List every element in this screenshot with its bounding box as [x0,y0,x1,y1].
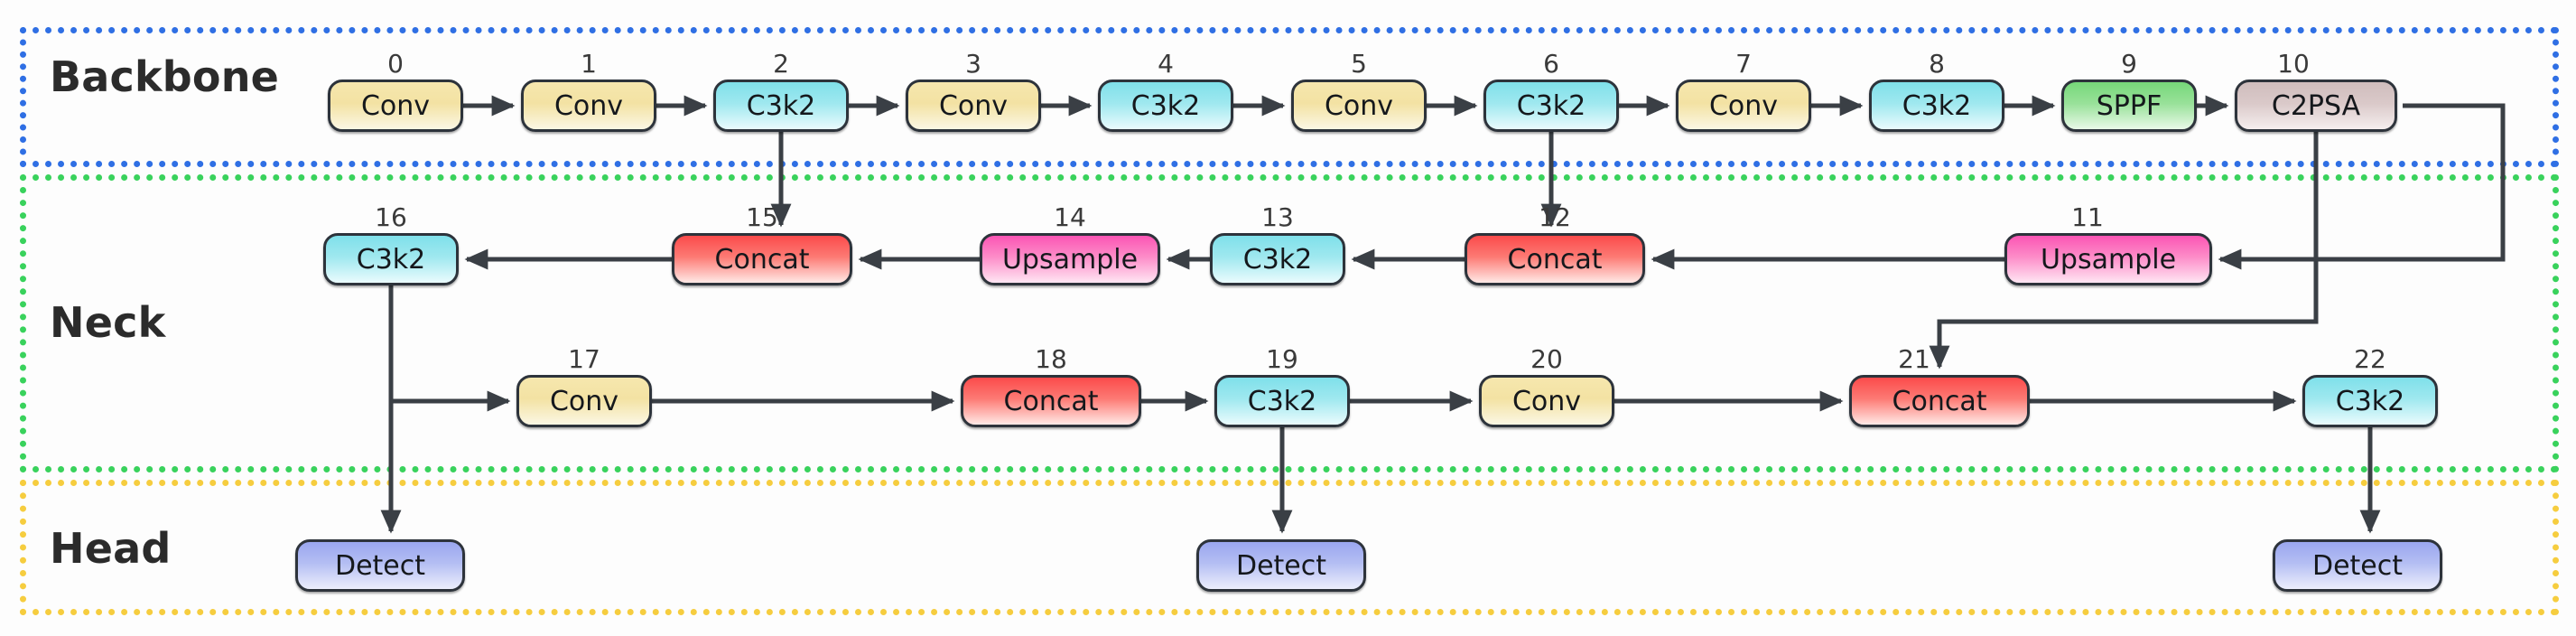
node-c3k2-13[interactable]: C3k2 [1210,233,1345,285]
node-label: Detect [1236,550,1326,582]
node-index-14: 14 [1054,202,1086,232]
node-index-15: 15 [746,202,778,232]
node-c3k2-6[interactable]: C3k2 [1483,79,1619,132]
node-index-1: 1 [581,49,597,79]
node-sppf-9[interactable]: SPPF [2061,79,2197,132]
node-index-3: 3 [965,49,981,79]
node-upsample-11[interactable]: Upsample [2004,233,2212,285]
node-label: Conv [1709,90,1778,122]
node-index-18: 18 [1035,344,1067,374]
node-index-2: 2 [773,49,789,79]
node-index-4: 4 [1158,49,1174,79]
node-conv-1[interactable]: Conv [521,79,656,132]
node-index-9: 9 [2121,49,2137,79]
node-index-17: 17 [568,344,600,374]
node-label: Conv [939,90,1008,122]
node-c3k2-16[interactable]: C3k2 [323,233,459,285]
node-conv-7[interactable]: Conv [1676,79,1811,132]
node-label: Upsample [1002,244,1138,276]
node-label: C3k2 [747,90,816,122]
node-index-21: 21 [1898,344,1930,374]
node-detect-d2[interactable]: Detect [1196,539,1366,592]
node-label: C2PSA [2272,90,2360,122]
node-index-6: 6 [1543,49,1559,79]
node-conv-5[interactable]: Conv [1291,79,1427,132]
node-conv-17[interactable]: Conv [516,375,652,427]
node-label: Detect [2312,550,2403,582]
node-c3k2-8[interactable]: C3k2 [1869,79,2004,132]
node-index-16: 16 [375,202,407,232]
node-label: Conv [1325,90,1393,122]
node-c3k2-2[interactable]: C3k2 [713,79,849,132]
node-label: C3k2 [1517,90,1586,122]
node-concat-15[interactable]: Concat [672,233,852,285]
node-label: Concat [1004,386,1099,417]
node-label: C3k2 [2336,386,2405,417]
node-index-7: 7 [1735,49,1752,79]
node-index-13: 13 [1261,202,1294,232]
node-label: Conv [550,386,618,417]
node-label: Concat [1892,386,1987,417]
node-index-8: 8 [1929,49,1945,79]
node-label: C3k2 [357,244,426,276]
node-label: SPPF [2097,90,2162,122]
node-index-22: 22 [2354,344,2386,374]
node-detect-d3[interactable]: Detect [2273,539,2442,592]
node-label: Concat [715,244,810,276]
node-concat-12[interactable]: Concat [1465,233,1645,285]
node-c3k2-19[interactable]: C3k2 [1214,375,1350,427]
node-c2psa-10[interactable]: C2PSA [2235,79,2397,132]
node-index-10: 10 [2277,49,2310,79]
node-index-12: 12 [1539,202,1571,232]
node-index-0: 0 [387,49,404,79]
node-label: C3k2 [1243,244,1313,276]
node-index-20: 20 [1530,344,1563,374]
node-label: C3k2 [1248,386,1317,417]
node-label: Conv [361,90,430,122]
node-conv-3[interactable]: Conv [906,79,1041,132]
node-detect-d1[interactable]: Detect [295,539,465,592]
node-label: Conv [1512,386,1581,417]
node-label: C3k2 [1902,90,1972,122]
node-index-5: 5 [1351,49,1367,79]
node-label: C3k2 [1131,90,1201,122]
node-upsample-14[interactable]: Upsample [980,233,1160,285]
node-concat-21[interactable]: Concat [1849,375,2030,427]
node-index-19: 19 [1266,344,1298,374]
node-c3k2-22[interactable]: C3k2 [2302,375,2438,427]
node-label: Detect [335,550,425,582]
edge-16-to-17 [391,285,508,401]
node-label: Concat [1508,244,1603,276]
node-concat-18[interactable]: Concat [961,375,1141,427]
node-index-11: 11 [2071,202,2104,232]
node-c3k2-4[interactable]: C3k2 [1098,79,1233,132]
node-label: Conv [554,90,623,122]
node-conv-0[interactable]: Conv [328,79,463,132]
node-conv-20[interactable]: Conv [1479,375,1614,427]
architecture-diagram: Backbone Neck Head Conv0Conv1C3k22Conv3C… [0,0,2576,636]
node-label: Upsample [2041,244,2176,276]
